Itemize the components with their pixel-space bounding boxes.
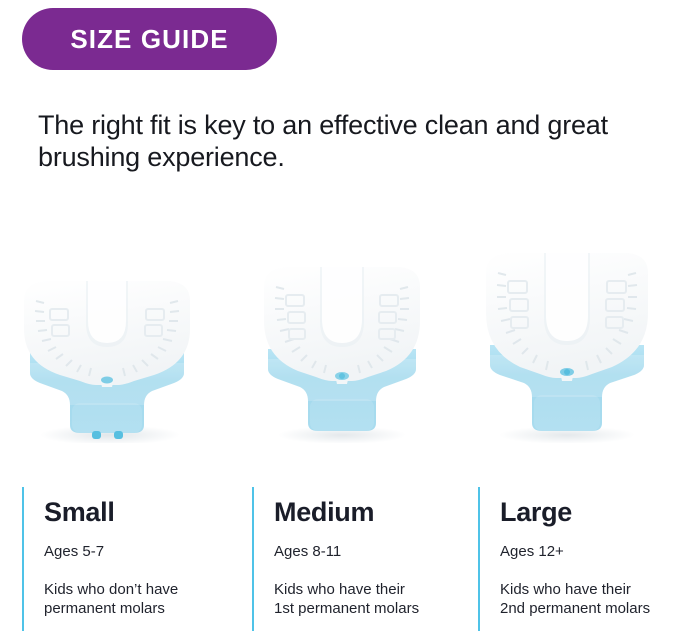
size-guide-badge: SIZE GUIDE	[22, 8, 277, 70]
size-ages-small: Ages 5-7	[44, 543, 240, 561]
size-guide-infographic: SIZE GUIDE The right fit is key to an ef…	[0, 0, 679, 631]
size-name-medium: Medium	[274, 499, 470, 526]
size-ages-medium: Ages 8-11	[274, 543, 470, 561]
size-columns: Small Ages 5-7 Kids who don’t have perma…	[0, 487, 679, 631]
product-image-row	[0, 228, 679, 443]
size-guide-badge-label: SIZE GUIDE	[70, 26, 228, 52]
size-name-large: Large	[500, 499, 678, 526]
product-image-small	[14, 267, 200, 443]
product-image-medium	[258, 257, 426, 443]
page-headline: The right fit is key to an effective cle…	[38, 110, 638, 173]
size-description-medium: Kids who have their 1st permanent molars	[274, 580, 470, 618]
size-column-small: Small Ages 5-7 Kids who don’t have perma…	[22, 487, 240, 631]
size-column-large: Large Ages 12+ Kids who have their 2nd p…	[478, 487, 678, 631]
size-description-small: Kids who don’t have permanent molars	[44, 580, 240, 618]
size-name-small: Small	[44, 499, 240, 526]
product-image-large	[478, 247, 656, 443]
size-column-medium: Medium Ages 8-11 Kids who have their 1st…	[252, 487, 470, 631]
size-ages-large: Ages 12+	[500, 543, 678, 561]
size-description-large: Kids who have their 2nd permanent molars	[500, 580, 678, 618]
